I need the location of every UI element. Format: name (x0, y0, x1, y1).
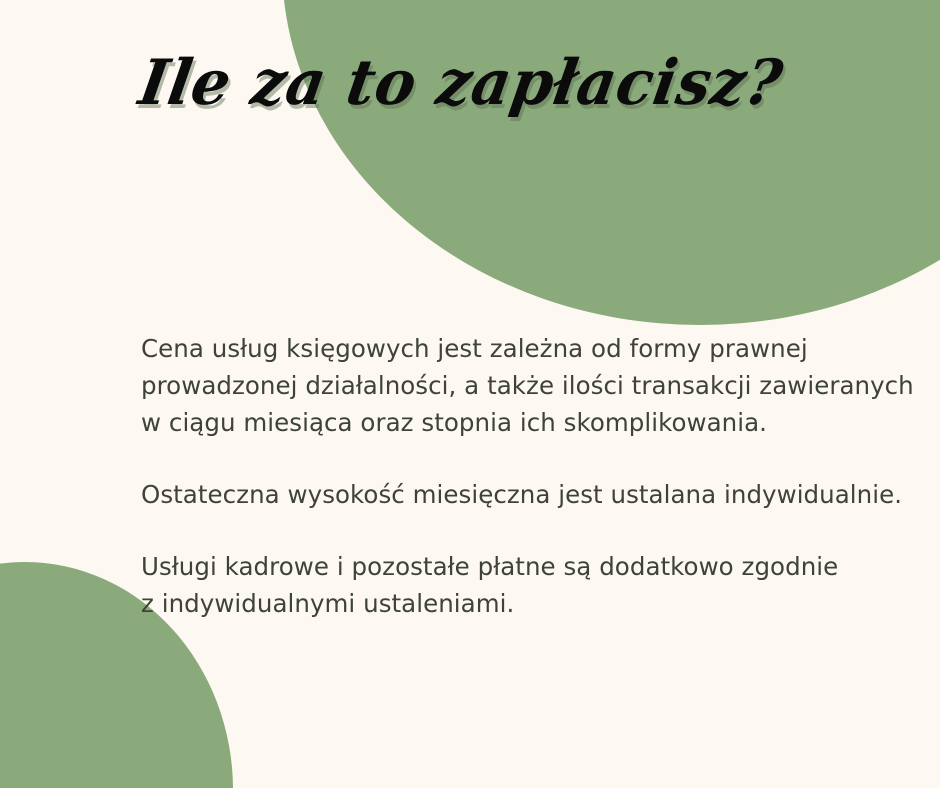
paragraph-line: Usługi kadrowe i pozostałe płatne są dod… (141, 548, 901, 585)
paragraph-line: Ostateczna wysokość miesięczna jest usta… (141, 476, 901, 513)
slide-canvas: Ile za to zapłacisz? Cena usług księgowy… (0, 0, 940, 788)
paragraph-line: Cena usług księgowych jest zależna od fo… (141, 330, 901, 367)
paragraph-2: Ostateczna wysokość miesięczna jest usta… (141, 476, 901, 513)
paragraph-line: prowadzonej działalności, a także ilości… (141, 367, 901, 404)
paragraph-line: w ciągu miesiąca oraz stopnia ich skompl… (141, 404, 901, 441)
paragraph-1: Cena usług księgowych jest zależna od fo… (141, 330, 901, 441)
body-text-block: Cena usług księgowych jest zależna od fo… (141, 330, 901, 622)
paragraph-line: z indywidualnymi ustaleniami. (141, 585, 901, 622)
paragraph-3: Usługi kadrowe i pozostałe płatne są dod… (141, 548, 901, 622)
